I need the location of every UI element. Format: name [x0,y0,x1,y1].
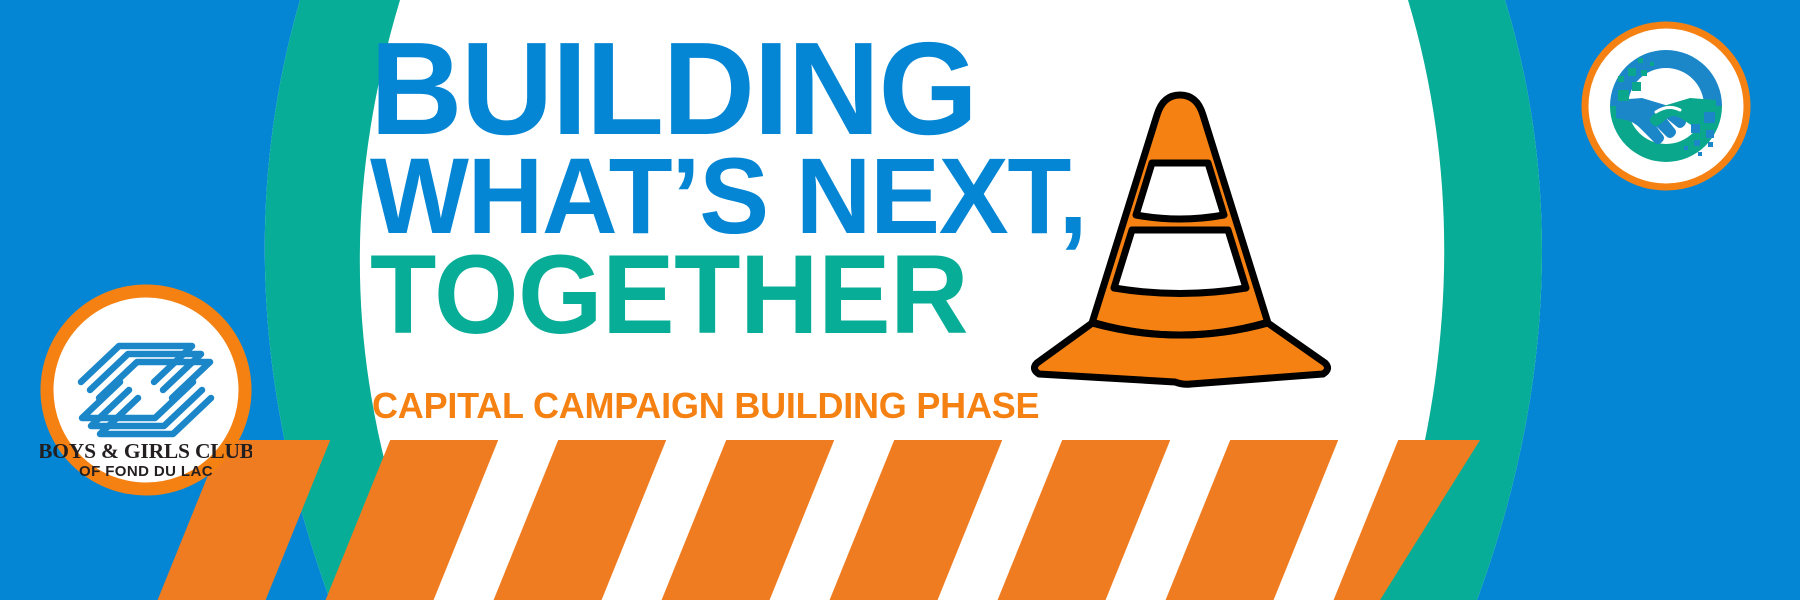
handshake-icon [1610,50,1722,162]
handshake-partner-logo[interactable] [1578,18,1754,194]
logo-text-line-2: OF FOND DU LAC [79,463,213,480]
cone-stripe-upper [1136,163,1224,219]
headline-block: BUILDING WHAT’S NEXT, TOGETHER [370,18,1070,342]
subheadline: CAPITAL CAMPAIGN BUILDING PHASE [372,385,1039,427]
logo-text-line-1: BOYS & GIRLS CLUB [40,439,252,463]
headline-line-1: BUILDING [370,34,1049,145]
campaign-banner: BUILDING WHAT’S NEXT, TOGETHER CAPITAL C… [0,0,1800,600]
boys-and-girls-club-logo[interactable]: BOYS & GIRLS CLUB OF FOND DU LAC [40,284,252,496]
headline-line-2: WHAT’S NEXT, [370,151,1049,242]
cone-stripe-lower [1114,230,1246,294]
headline-line-3: TOGETHER [370,248,1049,342]
